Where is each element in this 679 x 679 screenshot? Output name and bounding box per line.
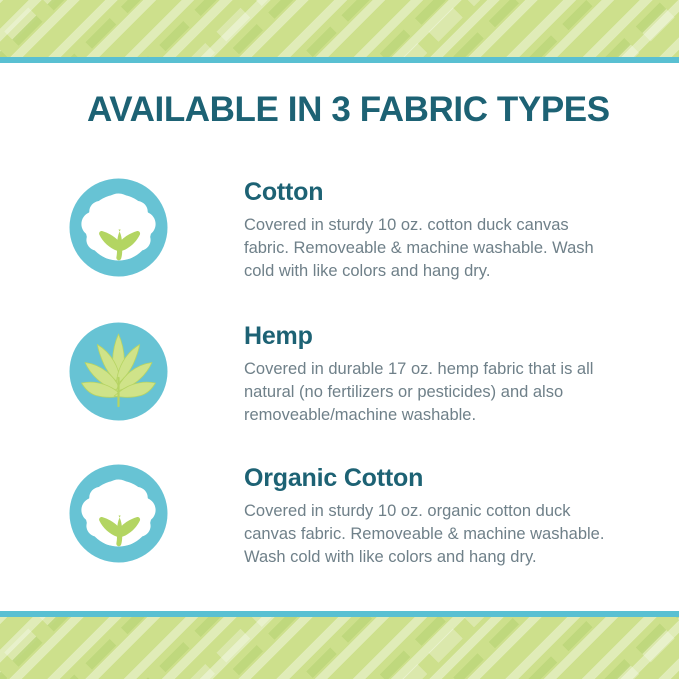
- section-body: Covered in sturdy 10 oz. organic cotton …: [244, 500, 616, 569]
- list-item-text: Organic Cotton Covered in sturdy 10 oz. …: [244, 462, 616, 569]
- section-title: Cotton: [244, 178, 616, 206]
- page-title: AVAILABLE IN 3 FABRIC TYPES: [87, 90, 610, 130]
- band-dash-texture: [0, 0, 679, 58]
- bottom-decorative-band: [0, 617, 679, 679]
- hemp-leaf-icon: [67, 320, 170, 423]
- list-item: Organic Cotton Covered in sturdy 10 oz. …: [0, 462, 679, 569]
- top-decorative-band: [0, 0, 679, 58]
- section-title: Hemp: [244, 322, 616, 350]
- band-dash-texture: [0, 617, 679, 679]
- top-accent-rule: [0, 57, 679, 63]
- cotton-boll-icon: [67, 462, 170, 565]
- list-item-text: Cotton Covered in sturdy 10 oz. cotton d…: [244, 176, 616, 283]
- list-item: Cotton Covered in sturdy 10 oz. cotton d…: [0, 176, 679, 283]
- list-item-text: Hemp Covered in durable 17 oz. hemp fabr…: [244, 320, 616, 427]
- list-item: Hemp Covered in durable 17 oz. hemp fabr…: [0, 320, 679, 427]
- section-title: Organic Cotton: [244, 464, 616, 492]
- section-body: Covered in durable 17 oz. hemp fabric th…: [244, 358, 616, 427]
- infographic-page: AVAILABLE IN 3 FABRIC TYPES Cotton Cover…: [0, 0, 679, 679]
- section-body: Covered in sturdy 10 oz. cotton duck can…: [244, 214, 616, 283]
- cotton-boll-icon: [67, 176, 170, 279]
